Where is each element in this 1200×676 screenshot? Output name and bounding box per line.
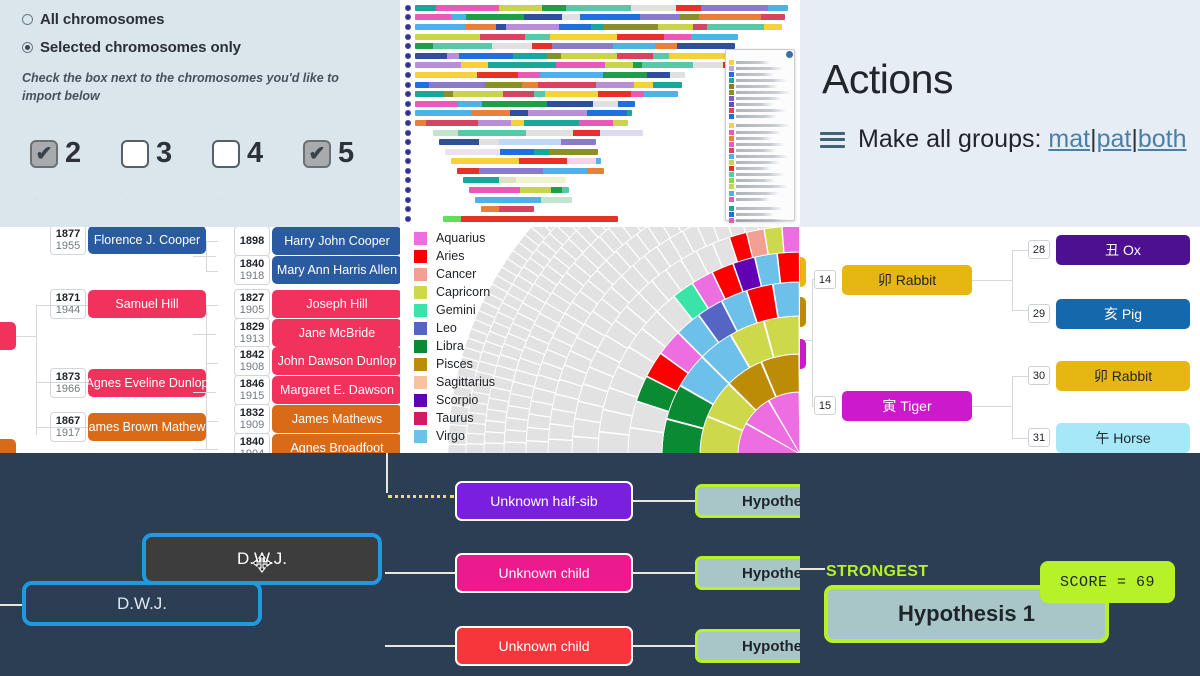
- make-all-groups-text: Make all groups: mat|pat|both: [858, 125, 1187, 154]
- zodiac-legend-label: Virgo: [436, 429, 465, 443]
- hypothesis-connector: [633, 572, 695, 574]
- chromosome-segment: [761, 14, 785, 20]
- chinese-zodiac-node-label: 卯 Rabbit: [878, 270, 936, 290]
- strongest-hypothesis-label: Hypothesis 1: [898, 601, 1035, 627]
- family-tree-dates: 18731966: [50, 368, 86, 398]
- sunburst-segment[interactable]: [782, 227, 799, 253]
- chromosome-dot-icon[interactable]: [405, 43, 411, 49]
- chromosome-segment: [500, 149, 535, 155]
- zodiac-color-swatch: [414, 376, 427, 389]
- chromosome-dot-icon[interactable]: [405, 101, 411, 107]
- family-tree-connector: [206, 256, 216, 257]
- chromosome-legend-box[interactable]: [725, 49, 795, 221]
- legend-color-swatch: [729, 184, 734, 189]
- chinese-zodiac-node[interactable]: [800, 297, 806, 327]
- chromosome-dot-icon[interactable]: [405, 62, 411, 68]
- chromosome-dot-icon[interactable]: [405, 216, 411, 222]
- family-tree-node[interactable]: Harry John Cooper: [272, 227, 400, 255]
- chromosome-segment: [603, 72, 647, 78]
- legend-color-swatch: [729, 166, 734, 171]
- zodiac-color-swatch: [414, 412, 427, 425]
- chromosome-segment: [426, 120, 479, 126]
- checkbox-chromosome-5[interactable]: ✔: [303, 140, 331, 168]
- family-tree-node-label: John Dawson Dunlop: [278, 354, 397, 368]
- legend-color-swatch: [729, 212, 734, 217]
- chromosome-segment: [613, 43, 655, 49]
- chromosome-segment: [562, 14, 580, 20]
- chromosome-dot-icon[interactable]: [405, 34, 411, 40]
- chromosome-segment: [415, 43, 433, 49]
- family-tree-node[interactable]: Samuel Hill: [88, 290, 206, 318]
- chromosome-segment: [415, 34, 480, 40]
- family-tree-dates: 18771955: [50, 227, 86, 255]
- hamburger-icon[interactable]: [820, 132, 845, 148]
- chromosome-segment: [587, 168, 604, 174]
- family-tree-node[interactable]: Jane McBride: [272, 319, 400, 347]
- chromosome-segment: [415, 62, 461, 68]
- chromosome-checkbox-cell-5[interactable]: ✔5: [303, 137, 394, 170]
- legend-color-swatch: [729, 60, 734, 65]
- zodiac-color-swatch: [414, 430, 427, 443]
- family-tree-node[interactable]: Agnes Broadfoot: [272, 434, 400, 454]
- family-tree-connector: [206, 449, 218, 450]
- family-tree-node-label: Margaret E. Dawson: [280, 383, 394, 397]
- chinese-zodiac-connector: [1012, 310, 1028, 311]
- chromosome-segment: [701, 5, 768, 11]
- chinese-zodiac-node[interactable]: 丑 Ox: [1056, 235, 1190, 265]
- chromosome-segment: [613, 120, 628, 126]
- family-tree-dates: 18291913: [234, 318, 270, 348]
- chromosome-bar[interactable]: [451, 158, 601, 164]
- family-tree-connector: [36, 427, 50, 428]
- hypothesis-connector: [386, 453, 388, 493]
- family-tree-node-label: Samuel Hill: [115, 297, 178, 311]
- chromosome-segment: [596, 158, 601, 164]
- chromosome-segment: [562, 187, 569, 193]
- chromosome-checkbox-cell-2[interactable]: ✔2: [30, 137, 121, 170]
- zodiac-legend-item[interactable]: Scorpio: [414, 391, 495, 409]
- chromosome-segment: [768, 5, 788, 11]
- sunburst-segment[interactable]: [598, 432, 629, 454]
- chromosome-bar[interactable]: [415, 82, 682, 88]
- chromosome-segment: [492, 43, 532, 49]
- chromosome-segment: [540, 72, 604, 78]
- chromosome-segment: [680, 14, 700, 20]
- chromosome-segment: [479, 139, 499, 145]
- chromosome-row[interactable]: [400, 22, 800, 32]
- legend-color-swatch: [729, 218, 734, 223]
- make-all-groups-row: Make all groups: mat|pat|both: [820, 125, 1187, 154]
- sunburst-segment[interactable]: [548, 439, 572, 454]
- chromosome-segment: [482, 101, 547, 107]
- chromosome-segment: [465, 24, 495, 30]
- score-badge: SCORE = 69: [1040, 561, 1175, 603]
- chromosome-segment: [475, 197, 541, 203]
- chinese-zodiac-node-label: 丑 Ox: [1105, 240, 1141, 260]
- chromosome-segment: [655, 43, 677, 49]
- hypothesis-connector: [385, 572, 455, 574]
- strongest-label: STRONGEST: [826, 563, 928, 581]
- sunburst-segment[interactable]: [572, 437, 599, 454]
- chromosome-segment: [670, 72, 685, 78]
- death-year: 1905: [240, 304, 264, 316]
- zodiac-color-swatch: [414, 304, 427, 317]
- family-tree-connector: [206, 363, 218, 364]
- chromosome-segment: [433, 43, 493, 49]
- tick-mark: ·: [30, 194, 121, 206]
- chromosome-bar[interactable]: [463, 177, 566, 183]
- legend-color-swatch: [729, 84, 734, 89]
- chromosome-segment: [415, 53, 447, 59]
- chromosome-dot-icon[interactable]: [405, 149, 411, 155]
- chromosome-segment: [532, 43, 552, 49]
- zodiac-legend-item[interactable]: Cancer: [414, 265, 495, 283]
- legend-color-swatch: [729, 130, 734, 135]
- chromosome-dot-icon[interactable]: [405, 24, 411, 30]
- checkbox-label-3: 3: [156, 137, 172, 170]
- chromosome-segment: [499, 139, 561, 145]
- radio-icon-all-chromosomes[interactable]: [22, 14, 33, 25]
- legend-item-label: [736, 173, 784, 176]
- legend-color-swatch: [729, 191, 734, 196]
- actions-panel: Actions Make all groups: mat|pat|both: [800, 0, 1200, 227]
- chromosome-dot-icon[interactable]: [405, 82, 411, 88]
- sunburst-segment[interactable]: [504, 430, 527, 443]
- chromosome-segment: [618, 101, 635, 107]
- chromosome-dot-icon[interactable]: [405, 139, 411, 145]
- chromosome-dot-icon[interactable]: [405, 177, 411, 183]
- zodiac-legend-label: Cancer: [436, 267, 476, 281]
- legend-item-label: [736, 115, 777, 118]
- chinese-zodiac-node[interactable]: [800, 257, 806, 287]
- chromosome-segment: [415, 120, 426, 126]
- chromosome-dot-icon[interactable]: [405, 168, 411, 174]
- family-tree-connector: [50, 427, 88, 428]
- chromosome-segment: [559, 24, 591, 30]
- chromosome-segment: [479, 168, 543, 174]
- birth-year: 1871: [56, 292, 80, 304]
- hypothesis-relation-node[interactable]: Unknown child: [455, 626, 633, 666]
- zodiac-legend-label: Aries: [436, 249, 464, 263]
- chromosome-segment: [603, 24, 658, 30]
- chromosome-segment: [457, 168, 479, 174]
- chromosome-segment: [627, 110, 632, 116]
- legend-color-swatch: [729, 102, 734, 107]
- chromosome-checkbox-cell-3[interactable]: 3: [121, 137, 212, 170]
- legend-item[interactable]: [729, 217, 791, 223]
- chromosome-row[interactable]: [400, 13, 800, 23]
- chromosome-segment: [415, 82, 429, 88]
- chromosome-segment: [415, 5, 436, 11]
- chromosome-dot-icon[interactable]: [405, 5, 411, 11]
- chromosome-bar[interactable]: [475, 197, 572, 203]
- link-pat[interactable]: pat: [1097, 125, 1132, 153]
- radio-option-all-chromosomes[interactable]: All chromosomes: [0, 11, 400, 28]
- family-tree-node[interactable]: Mary Ann Harris Allen: [272, 256, 400, 284]
- legend-item-label: [736, 67, 783, 70]
- chinese-zodiac-connector: [812, 406, 814, 407]
- zodiac-color-swatch: [414, 268, 427, 281]
- death-year: 1913: [240, 333, 264, 345]
- chromosome-segment: [444, 91, 453, 97]
- chinese-zodiac-connector: [972, 280, 1012, 281]
- chromosome-tick-row: · · ·: [0, 194, 400, 206]
- chinese-zodiac-node[interactable]: 卯 Rabbit: [1056, 361, 1190, 391]
- chromosome-segment: [453, 91, 504, 97]
- legend-color-swatch: [729, 66, 734, 71]
- chromosome-segment: [469, 187, 520, 193]
- hypothesis-graph-panel: Unknown half-sibUnknown childUnknown chi…: [0, 453, 1200, 676]
- checkbox-chromosome-4[interactable]: [212, 140, 240, 168]
- family-tree-node[interactable]: [0, 439, 16, 454]
- chromosome-segment: [669, 53, 727, 59]
- chromosome-dot-icon[interactable]: [405, 130, 411, 136]
- death-year: 1955: [56, 240, 80, 252]
- zodiac-legend-item[interactable]: Leo: [414, 319, 495, 337]
- chromosome-segment: [415, 14, 451, 20]
- family-tree-connector: [193, 334, 206, 335]
- hypothesis-relation-node[interactable]: Unknown child: [455, 553, 633, 593]
- chromosome-segment: [513, 53, 547, 59]
- chinese-zodiac-node[interactable]: 午 Horse: [1056, 423, 1190, 453]
- chinese-zodiac-connector: [972, 406, 1012, 407]
- family-tree-node[interactable]: John Dawson Dunlop: [272, 347, 400, 375]
- chromosome-dot-icon[interactable]: [405, 53, 411, 59]
- chromosome-dot-icon[interactable]: [405, 72, 411, 78]
- chromosome-segment: [587, 110, 627, 116]
- chromosome-segment: [573, 130, 600, 136]
- chromosome-bar[interactable]: [415, 24, 782, 30]
- sunburst-segment[interactable]: [777, 252, 799, 283]
- chromosome-segment: [647, 72, 671, 78]
- chromosome-dot-icon[interactable]: [405, 120, 411, 126]
- family-tree-node[interactable]: Margaret E. Dawson: [272, 376, 400, 404]
- zodiac-legend-item[interactable]: Virgo: [414, 427, 495, 445]
- chinese-zodiac-node-label: 午 Horse: [1095, 428, 1150, 448]
- legend-color-swatch: [729, 108, 734, 113]
- hypothesis-connector: [0, 604, 24, 606]
- chromosome-segment: [551, 187, 562, 193]
- family-tree-dates: 18401918: [234, 255, 270, 285]
- chromosome-bar[interactable]: [415, 110, 632, 116]
- chromosome-segment: [485, 82, 521, 88]
- radio-label-selected-chromosomes: Selected chromosomes only: [40, 39, 241, 56]
- gear-icon[interactable]: [786, 51, 793, 58]
- chromosome-segment: [556, 62, 604, 68]
- chinese-zodiac-connector: [812, 279, 814, 280]
- chromosome-dot-icon[interactable]: [405, 14, 411, 20]
- zodiac-legend-label: Libra: [436, 339, 464, 353]
- family-tree-node[interactable]: Joseph Hill: [272, 290, 400, 318]
- birth-year: 1877: [56, 228, 80, 240]
- family-tree-node[interactable]: Agnes Eveline Dunlop: [88, 369, 206, 397]
- hypothesis-relation-node[interactable]: Unknown half-sib: [455, 481, 633, 521]
- page-title: Actions: [822, 56, 953, 103]
- chromosome-segment: [534, 149, 549, 155]
- chromosome-segment: [566, 5, 631, 11]
- chromosome-dot-icon[interactable]: [405, 206, 411, 212]
- chromosome-segment: [617, 53, 653, 59]
- checkbox-label-2: 2: [65, 137, 81, 170]
- dwj-drop-target[interactable]: D.W.J.: [22, 581, 262, 626]
- family-tree-connector: [206, 334, 216, 335]
- chromosome-segment: [764, 24, 782, 30]
- chromosome-bar[interactable]: [415, 101, 635, 107]
- chromosome-bar[interactable]: [415, 53, 732, 59]
- hypothesis-dotted-connector: [388, 495, 454, 498]
- chinese-zodiac-node[interactable]: 卯 Rabbit: [842, 265, 972, 295]
- chinese-zodiac-connector: [1012, 250, 1013, 310]
- birth-year: 1827: [240, 292, 264, 304]
- family-tree-node[interactable]: James Brown Mathews: [88, 413, 206, 441]
- family-tree-connector: [206, 305, 218, 306]
- tick-mark: [303, 194, 394, 206]
- family-tree-node[interactable]: [0, 322, 16, 350]
- zodiac-legend-item[interactable]: Taurus: [414, 409, 495, 427]
- legend-item-label: [736, 103, 773, 106]
- zodiac-legend-item[interactable]: Aries: [414, 247, 495, 265]
- zodiac-legend-item[interactable]: Pisces: [414, 355, 495, 373]
- chromosome-segment: [593, 101, 619, 107]
- chromosome-select-panel: All chromosomes Selected chromosomes onl…: [0, 0, 400, 227]
- chromosome-row[interactable]: [400, 32, 800, 42]
- chromosome-bar[interactable]: [469, 187, 569, 193]
- chromosome-bar[interactable]: [415, 91, 678, 97]
- zodiac-legend-item[interactable]: Libra: [414, 337, 495, 355]
- chromosome-segment: [496, 24, 506, 30]
- chromosome-segment: [525, 34, 550, 40]
- chinese-zodiac-node[interactable]: 亥 Pig: [1056, 299, 1190, 329]
- chromosome-segment: [653, 82, 682, 88]
- chromosome-segment: [518, 72, 540, 78]
- zodiac-color-swatch: [414, 340, 427, 353]
- chromosome-bar[interactable]: [445, 149, 598, 155]
- family-tree-connector: [206, 392, 216, 393]
- chromosome-bar[interactable]: [481, 206, 534, 212]
- death-year: 1917: [56, 427, 80, 439]
- checkbox-label-5: 5: [338, 137, 354, 170]
- family-tree-dates: 18321909: [234, 404, 270, 434]
- death-year: 1909: [240, 419, 264, 431]
- chinese-zodiac-connector: [1012, 250, 1028, 251]
- zodiac-legend-label: Pisces: [436, 357, 473, 371]
- chromosome-checkbox-row: ✔234✔5: [0, 137, 400, 170]
- chromosome-bar[interactable]: [415, 43, 735, 49]
- sunburst-segment[interactable]: [526, 428, 549, 442]
- chromosome-checkbox-cell-4[interactable]: 4: [212, 137, 303, 170]
- legend-color-swatch: [729, 160, 734, 165]
- zodiac-color-swatch: [414, 250, 427, 263]
- chromosome-segment: [547, 53, 561, 59]
- chromosome-segment: [463, 177, 499, 183]
- chromosome-row[interactable]: [400, 3, 800, 13]
- chromosome-segment: [461, 216, 618, 222]
- family-tree-node-label: Harry John Cooper: [284, 234, 390, 248]
- chromosome-bar[interactable]: [415, 5, 788, 11]
- legend-color-swatch: [729, 142, 734, 147]
- legend-color-swatch: [729, 178, 734, 183]
- chromosome-dot-icon[interactable]: [405, 158, 411, 164]
- chromosome-bar[interactable]: [415, 34, 738, 40]
- family-tree-node[interactable]: James Mathews: [272, 405, 400, 433]
- make-all-groups-label: Make all groups:: [858, 125, 1041, 153]
- chromosome-bar[interactable]: [415, 14, 785, 20]
- chromosome-bar[interactable]: [439, 139, 596, 145]
- family-tree-node-label: James Brown Mathews: [88, 420, 206, 434]
- checkbox-chromosome-2[interactable]: ✔: [30, 140, 58, 168]
- legend-color-swatch: [729, 136, 734, 141]
- chromosome-segment: [552, 43, 614, 49]
- chromosome-segment: [617, 34, 664, 40]
- zodiac-legend-item[interactable]: Sagittarius: [414, 373, 495, 391]
- chromosome-bar[interactable]: [433, 130, 643, 136]
- checkbox-chromosome-3[interactable]: [121, 140, 149, 168]
- chinese-zodiac-node[interactable]: [800, 339, 806, 369]
- chromosome-bar[interactable]: [415, 62, 728, 68]
- radio-icon-selected-chromosomes[interactable]: [22, 42, 33, 53]
- zodiac-legend-item[interactable]: Gemini: [414, 301, 495, 319]
- chromosome-dot-icon[interactable]: [405, 91, 411, 97]
- family-tree-connector: [36, 305, 50, 306]
- family-tree-dates: 1898: [234, 227, 270, 256]
- hypothesis-relation-label: Unknown half-sib: [490, 493, 597, 509]
- chromosome-dot-icon[interactable]: [405, 187, 411, 193]
- legend-item-label: [736, 79, 787, 82]
- link-mat[interactable]: mat: [1048, 125, 1090, 153]
- chinese-zodiac-connector: [1012, 438, 1028, 439]
- zodiac-legend-label: Scorpio: [436, 393, 478, 407]
- chromosome-dot-icon[interactable]: [405, 110, 411, 116]
- chinese-zodiac-node-label: 卯 Rabbit: [1094, 366, 1152, 386]
- chromosome-segment: [477, 72, 519, 78]
- legend-color-swatch: [729, 172, 734, 177]
- chromosome-segment: [510, 110, 528, 116]
- chromosome-bar[interactable]: [443, 216, 618, 222]
- link-both[interactable]: both: [1138, 125, 1187, 153]
- family-tree-node[interactable]: Florence J. Cooper: [88, 227, 206, 254]
- chromosome-bar[interactable]: [415, 72, 685, 78]
- chromosome-segment: [472, 110, 510, 116]
- family-tree-connector: [206, 241, 218, 242]
- chromosome-dot-icon[interactable]: [405, 197, 411, 203]
- chromosome-segment: [693, 62, 724, 68]
- chinese-zodiac-node-number: 28: [1028, 240, 1050, 259]
- chromosome-segment: [605, 62, 634, 68]
- family-tree-connector: [206, 271, 218, 272]
- hypothesis-connector: [633, 500, 695, 502]
- chromosome-segment: [596, 82, 634, 88]
- chromosome-bar[interactable]: [457, 168, 604, 174]
- chinese-zodiac-node-label: 亥 Pig: [1104, 304, 1142, 324]
- family-tree-connector: [36, 382, 50, 383]
- legend-item-label: [736, 192, 779, 195]
- chinese-zodiac-node[interactable]: 寅 Tiger: [842, 391, 972, 421]
- zodiac-legend-item[interactable]: Aquarius: [414, 229, 495, 247]
- legend-item-label: [736, 85, 778, 88]
- legend-item-label: [736, 161, 780, 164]
- zodiac-legend-list: AquariusAriesCancerCapricornGeminiLeoLib…: [414, 229, 495, 445]
- chromosome-bar[interactable]: [415, 120, 628, 126]
- death-year: 1908: [240, 361, 264, 373]
- zodiac-legend-item[interactable]: Capricorn: [414, 283, 495, 301]
- radio-selected-dot: [25, 45, 30, 50]
- legend-item-label: [736, 219, 787, 222]
- legend-item-label: [736, 155, 789, 158]
- chromosome-segment: [693, 24, 708, 30]
- legend-item-label: [736, 143, 785, 146]
- chromosome-segment: [499, 5, 542, 11]
- radio-option-selected-chromosomes[interactable]: Selected chromosomes only: [0, 39, 400, 56]
